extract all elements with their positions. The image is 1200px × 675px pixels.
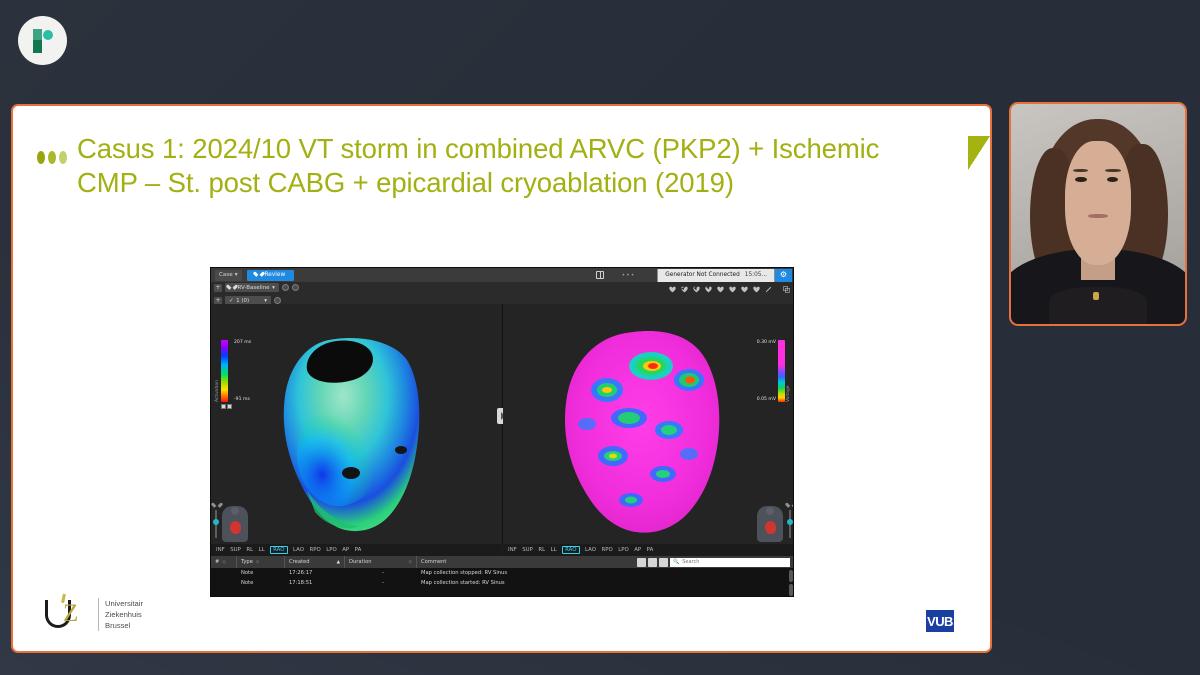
gear-icon: ⚙ <box>780 271 787 279</box>
table-scrollbar-thumb-2[interactable] <box>789 584 793 596</box>
event-log-header-row: # ◇ Type ◇ Created ▲ Duration ◇ <box>211 556 793 568</box>
toolbar-mid-icons: ••• <box>596 271 636 279</box>
copy-icon[interactable] <box>783 286 790 293</box>
ep-mapping-screenshot: Case ▾ Review ••• Generator Not Connecte… <box>210 267 794 597</box>
title-bullet-dots <box>37 151 67 164</box>
row-comment-2: Map collection started: RV Sinus <box>417 580 793 586</box>
left-orientation-widget[interactable] <box>213 502 251 542</box>
orient-ap-2[interactable]: AP <box>634 547 641 553</box>
heart-view-icon-8[interactable] <box>753 286 760 293</box>
orient-rao-active-2[interactable]: RAO <box>562 546 579 554</box>
bullet-dot-1 <box>37 151 45 164</box>
review-button-label: Review <box>265 272 286 278</box>
settings-button[interactable]: ⚙ <box>775 269 792 282</box>
heart-icon <box>256 272 262 278</box>
activation-colorbar: Activation 207 ms -91 ms <box>215 340 251 409</box>
orient-lpo-2[interactable]: LPO <box>618 547 629 553</box>
uz-logo-mark: Z <box>43 594 91 634</box>
sort-ascending-icon: ▲ <box>337 560 340 565</box>
right-orientation-widget[interactable] <box>755 502 793 542</box>
heart-icon <box>788 503 794 509</box>
heart-view-icon-3[interactable] <box>693 286 700 293</box>
presenter-video-tile[interactable] <box>1009 102 1187 326</box>
ruler-icon[interactable] <box>765 286 772 293</box>
row-duration-2: - <box>345 580 417 586</box>
orient-lao[interactable]: LAO <box>293 547 304 553</box>
voltage-colorbar: 0.30 mV 0.05 mV Voltage <box>757 340 791 402</box>
presenter-eye-left <box>1075 177 1086 182</box>
screen-root: Casus 1: 2024/10 VT storm in combined AR… <box>0 0 1200 675</box>
point-visibility-toggle[interactable] <box>274 297 281 304</box>
col-header-type-label: Type <box>241 559 253 565</box>
row-created: 17:26:17 <box>285 570 345 576</box>
slide-chevron-decoration <box>968 136 990 170</box>
orient-ll-2[interactable]: LL <box>551 547 557 553</box>
ep-top-toolbar: Case ▾ Review ••• Generator Not Connecte… <box>211 268 793 282</box>
event-log-table: # ◇ Type ◇ Created ▲ Duration ◇ <box>211 556 793 597</box>
orient-rl[interactable]: RL <box>246 547 253 553</box>
snapshot-icon[interactable] <box>659 558 668 567</box>
row-duration: - <box>345 570 417 576</box>
colorbar-swatch-buttons[interactable] <box>221 404 232 409</box>
uz-z-shape: Z <box>63 601 78 626</box>
orient-lao-2[interactable]: LAO <box>585 547 596 553</box>
search-placeholder: Search <box>682 559 699 565</box>
presenter-face <box>1065 141 1131 264</box>
body-silhouette-icon-2 <box>757 506 783 542</box>
orient-pa-2[interactable]: PA <box>647 547 654 553</box>
heart-icon <box>214 503 220 509</box>
book-icon[interactable] <box>596 271 604 279</box>
row-comment: Map collection stopped: RV Sinus <box>417 570 793 576</box>
activation-colorbar-gradient[interactable] <box>221 340 228 402</box>
uz-line-3: Brussel <box>105 620 143 631</box>
row-created-2: 17:18:51 <box>285 580 345 586</box>
col-header-comment-label: Comment <box>421 559 446 565</box>
orient-inf-2[interactable]: INF <box>508 547 517 553</box>
presenter-video-feed <box>1011 104 1185 324</box>
col-header-duration-label: Duration <box>349 559 372 565</box>
row-type: Note <box>237 570 285 576</box>
orient-inf[interactable]: INF <box>216 547 225 553</box>
right-orientation-slider[interactable] <box>788 510 792 538</box>
sort-indicator-icon-3: ◇ <box>409 560 412 565</box>
slider-knob[interactable] <box>213 519 219 525</box>
presenter-eye-right <box>1107 177 1118 182</box>
logo-mark <box>31 29 55 53</box>
activation-colorbar-axis-label: Activation <box>215 340 220 402</box>
map-selector-label: RV-Baseline <box>238 285 270 291</box>
body-silhouette-icon <box>222 506 248 542</box>
col-header-type[interactable]: Type ◇ <box>237 556 285 568</box>
point-count-label: 1 (0) <box>236 298 249 304</box>
heart-highlight-icon <box>229 520 242 534</box>
orient-rl-2[interactable]: RL <box>538 547 545 553</box>
table-scrollbar-thumb[interactable] <box>789 570 793 582</box>
col-header-created-label: Created <box>289 559 310 565</box>
case-menu-button[interactable]: Case ▾ <box>215 270 242 281</box>
col-header-comment[interactable]: Comment <box>417 556 637 568</box>
slider-knob-2[interactable] <box>787 519 793 525</box>
review-button[interactable]: Review <box>247 270 295 281</box>
bullet-dot-3 <box>59 151 67 164</box>
activation-map-pane[interactable]: Activation 207 ms -91 ms <box>211 304 502 544</box>
orient-sup[interactable]: SUP <box>230 547 241 553</box>
left-orientation-slider[interactable] <box>214 510 218 538</box>
logo-dot <box>43 30 53 40</box>
presentation-platform-logo <box>18 16 67 65</box>
page-title: Casus 1: 2024/10 VT storm in combined AR… <box>77 132 930 199</box>
orient-rpo[interactable]: RPO <box>309 547 320 553</box>
orient-rao-active[interactable]: RAO <box>270 546 287 554</box>
sort-indicator-icon: ◇ <box>222 560 225 565</box>
uz-line-1: Universitair <box>105 598 143 609</box>
col-header-duration[interactable]: Duration ◇ <box>345 556 417 568</box>
view-preset-icons <box>669 286 790 293</box>
ep-map-canvas-area: Activation 207 ms -91 ms <box>211 304 793 544</box>
voltage-colorbar-min: 0.05 mV <box>757 397 776 402</box>
vub-logo: VUB <box>926 610 954 632</box>
bullet-dot-2 <box>48 151 56 164</box>
map-visibility-toggle[interactable] <box>282 284 289 291</box>
orient-ap[interactable]: AP <box>342 547 349 553</box>
case-menu-label: Case <box>219 272 233 278</box>
activation-colorbar-min: -91 ms <box>234 397 251 402</box>
heart-view-icon-1[interactable] <box>669 286 676 293</box>
search-input[interactable]: 🔍 Search <box>670 558 790 567</box>
table-row[interactable]: Note 17:18:51 - Map collection started: … <box>211 578 793 588</box>
map-selector-rv-baseline[interactable]: RV-Baseline ▾ <box>225 283 279 292</box>
voltage-colorbar-gradient[interactable] <box>778 340 785 402</box>
map-options-toggle[interactable] <box>292 284 299 291</box>
heart-view-icon-2[interactable] <box>681 286 688 293</box>
col-header-num[interactable]: # ◇ <box>211 556 237 568</box>
orient-sup-2[interactable]: SUP <box>522 547 533 553</box>
logo-bar-top <box>33 29 42 40</box>
orient-lpo[interactable]: LPO <box>326 547 337 553</box>
heart-view-icon-6[interactable] <box>729 286 736 293</box>
ep-map-selector-bar: + RV-Baseline ▾ + ✓ 1 (0) ▾ <box>211 282 793 304</box>
voltage-colorbar-max: 0.30 mV <box>757 340 776 345</box>
right-orientation-bar: INF SUP RL LL RAO LAO RPO LPO AP PA <box>503 544 794 556</box>
uz-brussel-logo: Z Universitair Ziekenhuis Brussel <box>43 594 143 634</box>
sort-indicator-icon-2: ◇ <box>256 560 259 565</box>
heart-view-icon-7[interactable] <box>741 286 748 293</box>
generator-status-label: Generator Not Connected <box>665 272 740 278</box>
generator-status-badge: Generator Not Connected 15:05... <box>657 269 775 282</box>
logo-bar-bottom <box>33 40 42 53</box>
body-head-2 <box>766 507 774 515</box>
heart-icon <box>229 285 235 291</box>
slide-canvas: Casus 1: 2024/10 VT storm in combined AR… <box>11 104 992 653</box>
uz-logo-text: Universitair Ziekenhuis Brussel <box>98 598 143 631</box>
heart-view-icon-4[interactable] <box>705 286 712 293</box>
voltage-map-pane[interactable]: 0.30 mV 0.05 mV Voltage <box>503 304 794 544</box>
col-header-num-label: # <box>215 559 219 565</box>
orient-ll[interactable]: LL <box>259 547 265 553</box>
camera-icon[interactable] <box>648 558 657 567</box>
add-map-icon[interactable]: + <box>214 284 222 292</box>
video-icon[interactable] <box>637 558 646 567</box>
slide-title-row: Casus 1: 2024/10 VT storm in combined AR… <box>37 132 930 199</box>
search-icon: 🔍 <box>673 559 679 565</box>
chevron-down-icon-2: ▾ <box>264 298 267 304</box>
table-row[interactable]: Note 17:26:17 - Map collection stopped: … <box>211 568 793 578</box>
voltage-map-geometry <box>503 304 794 544</box>
overflow-menu-icon[interactable]: ••• <box>622 272 636 279</box>
check-icon: ✓ <box>229 298 234 304</box>
uz-line-2: Ziekenhuis <box>105 609 143 620</box>
body-head <box>231 507 239 515</box>
col-header-created[interactable]: Created ▲ <box>285 556 345 568</box>
orient-pa[interactable]: PA <box>355 547 362 553</box>
orient-rpo-2[interactable]: RPO <box>601 547 612 553</box>
chevron-down-icon: ▾ <box>272 285 275 291</box>
heart-highlight-icon-2 <box>764 520 777 534</box>
activation-colorbar-max: 207 ms <box>234 340 251 345</box>
voltage-colorbar-axis-label: Voltage <box>786 340 791 402</box>
chevron-down-icon: ▾ <box>235 272 238 278</box>
event-log-tools: 🔍 Search <box>637 558 793 567</box>
heart-view-icon-5[interactable] <box>717 286 724 293</box>
row-type-2: Note <box>237 580 285 586</box>
left-orientation-bar: INF SUP RL LL RAO LAO RPO LPO AP PA <box>211 544 502 556</box>
generator-status-time: 15:05... <box>745 272 767 278</box>
activation-map-geometry <box>211 304 502 544</box>
presenter-pendant <box>1093 292 1099 300</box>
